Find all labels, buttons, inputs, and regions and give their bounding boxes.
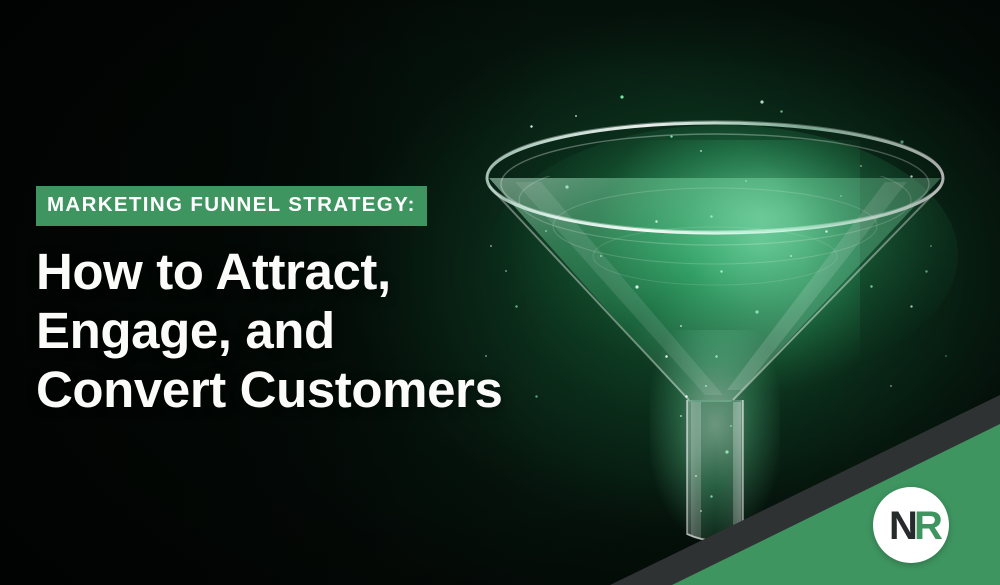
nr-logo[interactable]: R N — [873, 487, 949, 563]
marketing-funnel-banner: R N MARKETING FUNNEL STRATEGY: How to At… — [0, 0, 1000, 585]
headline-line-1: How to Attract, — [36, 242, 596, 301]
headline-line-2: Engage, and — [36, 301, 596, 360]
logo-letter-r: R — [914, 504, 943, 548]
headline-line-3: Convert Customers — [36, 360, 596, 419]
eyebrow-badge: MARKETING FUNNEL STRATEGY: — [36, 186, 427, 226]
page-title: How to Attract, Engage, and Convert Cust… — [36, 242, 596, 420]
logo-letter-n: N — [889, 504, 918, 548]
headline-block: MARKETING FUNNEL STRATEGY: How to Attrac… — [36, 186, 596, 420]
